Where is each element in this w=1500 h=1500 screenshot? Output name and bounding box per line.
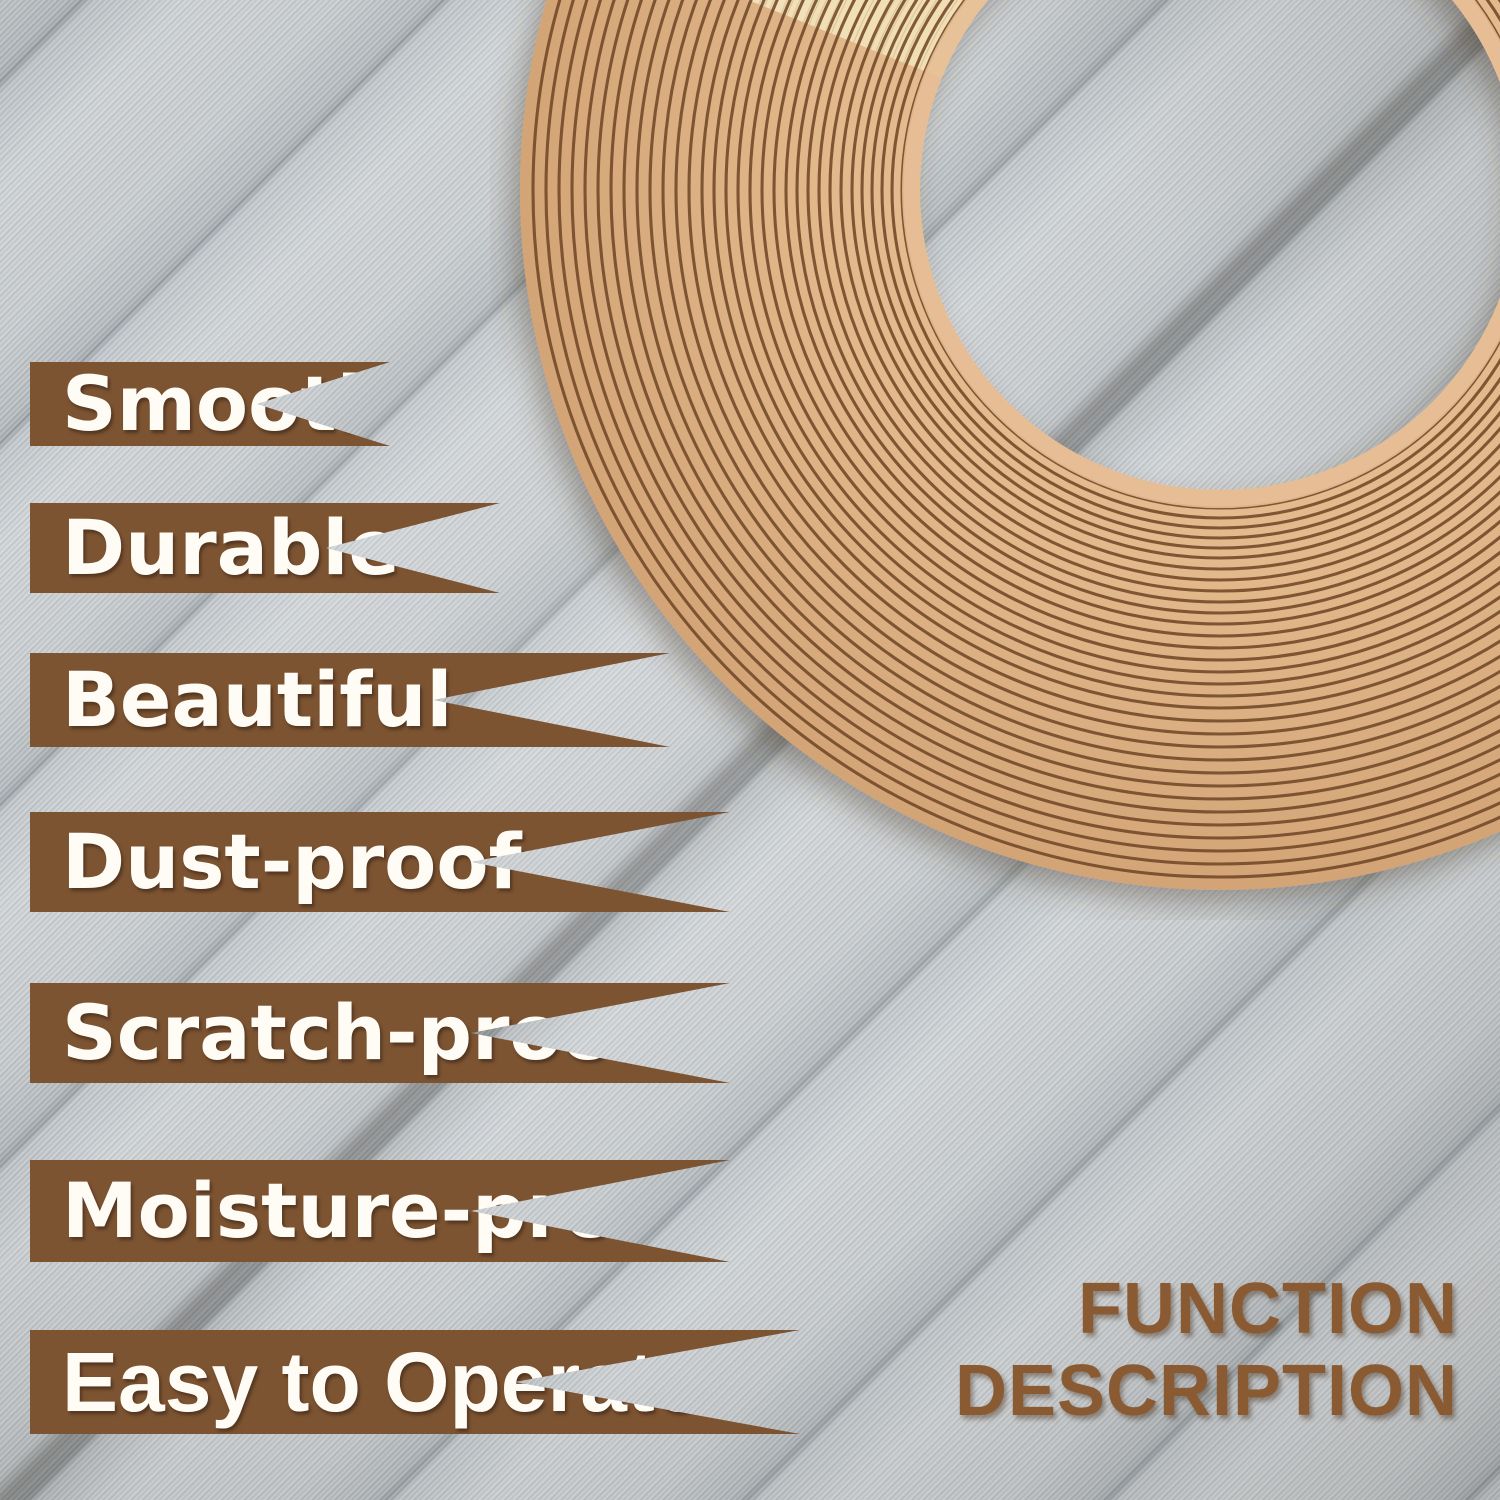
function-description-heading: FUNCTION DESCRIPTION: [955, 1268, 1458, 1432]
feature-banner-label: Dust-proof: [62, 824, 522, 900]
infographic-canvas: SmoothDurableBeautifulDust-proofScratch-…: [0, 0, 1500, 1500]
headline-line-2: DESCRIPTION: [955, 1350, 1458, 1432]
headline-line-1: FUNCTION: [955, 1268, 1458, 1350]
feature-banner-label: Beautiful: [62, 662, 452, 738]
